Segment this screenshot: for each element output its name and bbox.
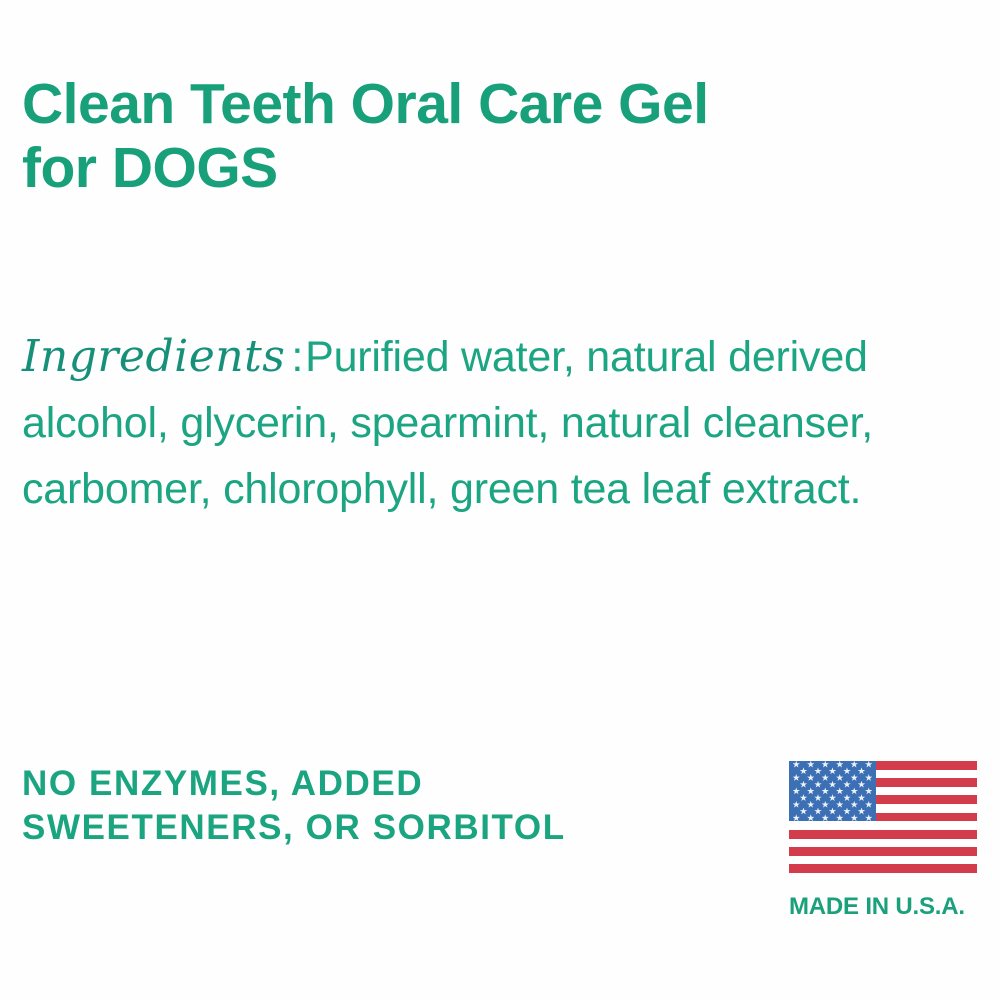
flag-star — [843, 781, 850, 788]
flag-star — [793, 761, 800, 768]
flag-star — [822, 774, 829, 781]
flag-star — [843, 808, 850, 815]
flag-star — [800, 808, 807, 815]
flag-star — [858, 767, 865, 774]
flag-star — [865, 761, 872, 768]
flag-star — [814, 794, 821, 801]
flag-star — [865, 814, 872, 821]
title-line-2: for DOGS — [22, 136, 842, 200]
flag-star — [851, 774, 858, 781]
flag-star — [822, 761, 829, 768]
flag-star — [858, 794, 865, 801]
flag-star — [822, 801, 829, 808]
flag-star — [829, 808, 836, 815]
flag-star — [843, 794, 850, 801]
flag-star — [858, 781, 865, 788]
title-line-2-prefix: for — [22, 136, 112, 200]
flag-star — [836, 761, 843, 768]
flag-star — [858, 808, 865, 815]
flag-star — [865, 787, 872, 794]
flag-star — [851, 814, 858, 821]
flag-star — [851, 761, 858, 768]
flag-star — [843, 767, 850, 774]
flag-star — [829, 767, 836, 774]
flag-star — [793, 814, 800, 821]
flag-star — [822, 814, 829, 821]
flag-star — [814, 767, 821, 774]
flag-star — [814, 781, 821, 788]
flag-star — [807, 774, 814, 781]
flag-star — [814, 808, 821, 815]
flag-stripe — [789, 864, 977, 873]
flag-star — [800, 781, 807, 788]
flag-star — [836, 814, 843, 821]
flag-star — [793, 787, 800, 794]
claim-line-1: NO ENZYMES, ADDED — [22, 762, 742, 806]
ingredients-label: Ingredients — [22, 331, 287, 382]
flag-star — [865, 774, 872, 781]
product-label-panel: Clean Teeth Oral Care Gel for DOGS Ingre… — [0, 0, 1000, 1000]
flag-star — [807, 761, 814, 768]
title-line-2-species: DOGS — [112, 136, 278, 200]
flag-stripe — [789, 847, 977, 856]
flag-star — [851, 787, 858, 794]
flag-star — [851, 801, 858, 808]
flag-stripe — [789, 830, 977, 839]
page-title: Clean Teeth Oral Care Gel for DOGS — [22, 72, 842, 200]
flag-star — [822, 787, 829, 794]
made-in-usa-badge: MADE IN U.S.A. — [789, 761, 977, 921]
flag-star — [807, 801, 814, 808]
flag-star — [829, 794, 836, 801]
usa-flag-icon — [789, 761, 977, 873]
flag-star — [800, 767, 807, 774]
title-line-1: Clean Teeth Oral Care Gel — [22, 72, 842, 136]
flag-star — [793, 801, 800, 808]
claim-line-2: SWEETENERS, OR SORBITOL — [22, 806, 742, 850]
flag-star — [800, 794, 807, 801]
flag-star — [836, 774, 843, 781]
ingredients-paragraph: Ingredients:Purified water, natural deri… — [22, 324, 982, 522]
flag-star — [836, 801, 843, 808]
ingredients-separator: : — [287, 333, 305, 381]
flag-star — [807, 814, 814, 821]
claim-block: NO ENZYMES, ADDED SWEETENERS, OR SORBITO… — [22, 762, 742, 850]
flag-star — [793, 774, 800, 781]
flag-star — [829, 781, 836, 788]
made-in-usa-label: MADE IN U.S.A. — [789, 893, 977, 921]
flag-star — [836, 787, 843, 794]
flag-canton — [789, 761, 876, 821]
flag-star — [807, 787, 814, 794]
flag-star — [865, 801, 872, 808]
